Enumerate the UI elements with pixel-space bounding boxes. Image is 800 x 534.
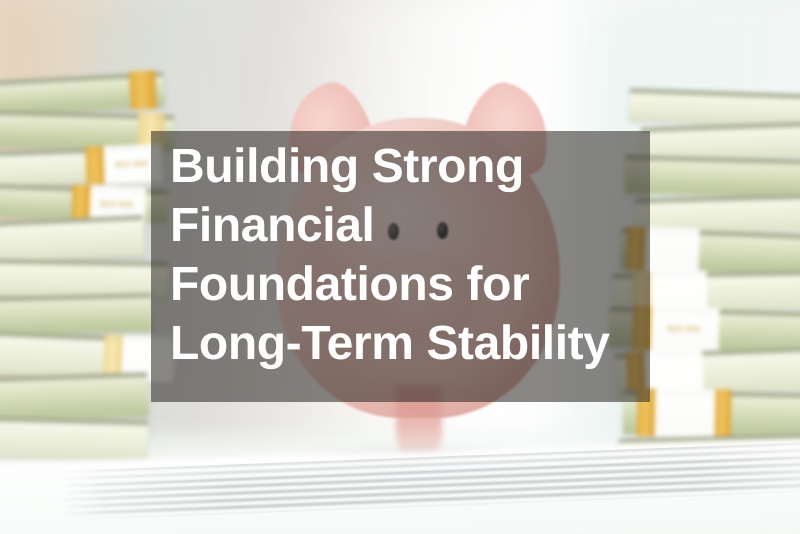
banknote-bundle: $10 000 xyxy=(0,146,159,188)
article-headline: Building Strong Financial Foundations fo… xyxy=(170,137,640,373)
headline-line: Building Strong xyxy=(170,140,524,193)
article-hero-banner: $10 000 $10 000 xyxy=(0,0,800,534)
headline-line: Foundations for xyxy=(170,258,529,311)
banknote-bundle xyxy=(0,293,152,337)
money-band-denomination: $10 000 xyxy=(116,159,149,169)
headline-overlay-panel: Building Strong Financial Foundations fo… xyxy=(151,131,650,402)
banknote-bundle xyxy=(629,88,800,128)
banknote-bundle xyxy=(0,372,149,424)
banknote-bundle xyxy=(0,215,145,264)
headline-line: Long-Term Stability xyxy=(170,317,610,370)
money-band-denomination: $10 000 xyxy=(668,324,701,334)
money-band-denomination: $10 000 xyxy=(101,199,134,209)
headline-line: Financial xyxy=(170,199,374,252)
banknote-bundle xyxy=(625,155,800,199)
banknote-bundle xyxy=(0,258,168,298)
banknote-bundle xyxy=(0,415,148,461)
banknote-bundle: $10 000 xyxy=(0,182,168,222)
